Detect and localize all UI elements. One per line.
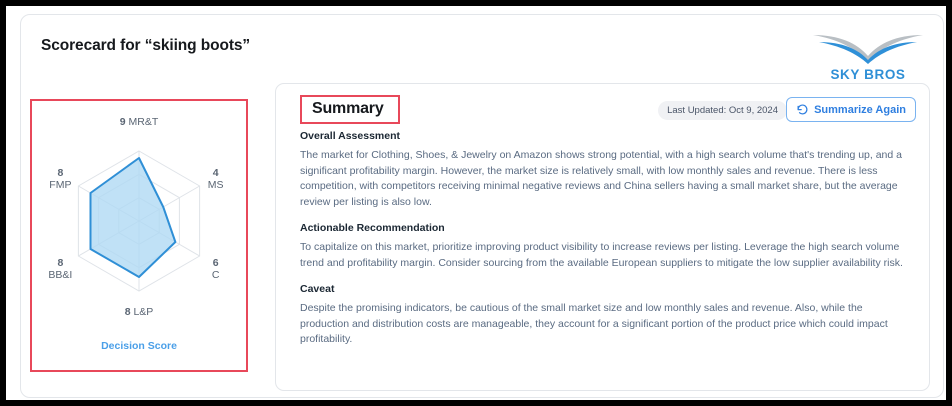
svg-text:8: 8: [57, 257, 63, 269]
summary-section: Actionable Recommendation To capitalize …: [300, 222, 905, 271]
rotate-ccw-icon: [796, 103, 809, 116]
summarize-again-label: Summarize Again: [814, 104, 906, 116]
section-text: The market for Clothing, Shoes, & Jewelr…: [300, 148, 905, 210]
summary-title: Summary: [312, 100, 384, 117]
svg-text:6: 6: [213, 257, 219, 269]
svg-text:4: 4: [213, 167, 219, 179]
svg-text:9 MR&T: 9 MR&T: [120, 116, 159, 128]
svg-text:8 L&P: 8 L&P: [125, 306, 154, 318]
summary-title-highlight: Summary: [300, 95, 400, 124]
summary-header: Summary Last Updated: Oct 9, 2024 Summar…: [276, 84, 929, 130]
svg-text:MS: MS: [208, 179, 224, 191]
wings-icon: [809, 29, 927, 69]
decision-score-label: Decision Score: [32, 340, 246, 352]
scorecard-card: Scorecard for “skiing boots” SKY BROS 9 …: [20, 14, 944, 398]
summary-panel: Summary Last Updated: Oct 9, 2024 Summar…: [275, 83, 930, 391]
svg-text:FMP: FMP: [49, 179, 71, 191]
section-heading: Actionable Recommendation: [300, 222, 905, 234]
radar-chart-panel: 9 MR&T4MS6C8 L&P8BB&I8FMP Decision Score: [30, 99, 248, 372]
section-text: To capitalize on this market, prioritize…: [300, 240, 905, 271]
summary-section: Caveat Despite the promising indicators,…: [300, 283, 905, 348]
section-text: Despite the promising indicators, be cau…: [300, 301, 905, 348]
summarize-again-button[interactable]: Summarize Again: [786, 97, 916, 122]
app-frame: Scorecard for “skiing boots” SKY BROS 9 …: [0, 0, 952, 406]
section-heading: Overall Assessment: [300, 130, 905, 142]
summary-section: Overall Assessment The market for Clothi…: [300, 130, 905, 210]
page-title: Scorecard for “skiing boots”: [41, 37, 250, 55]
brand-logo: SKY BROS: [807, 29, 929, 91]
svg-text:8: 8: [57, 167, 63, 179]
last-updated-badge: Last Updated: Oct 9, 2024: [658, 101, 787, 120]
section-heading: Caveat: [300, 283, 905, 295]
brand-name: SKY BROS: [807, 67, 929, 82]
summary-body: Overall Assessment The market for Clothi…: [276, 130, 929, 348]
svg-text:BB&I: BB&I: [48, 269, 72, 281]
radar-chart-svg: 9 MR&T4MS6C8 L&P8BB&I8FMP: [32, 101, 246, 341]
radar-chart: 9 MR&T4MS6C8 L&P8BB&I8FMP: [32, 101, 246, 341]
svg-text:C: C: [212, 269, 220, 281]
